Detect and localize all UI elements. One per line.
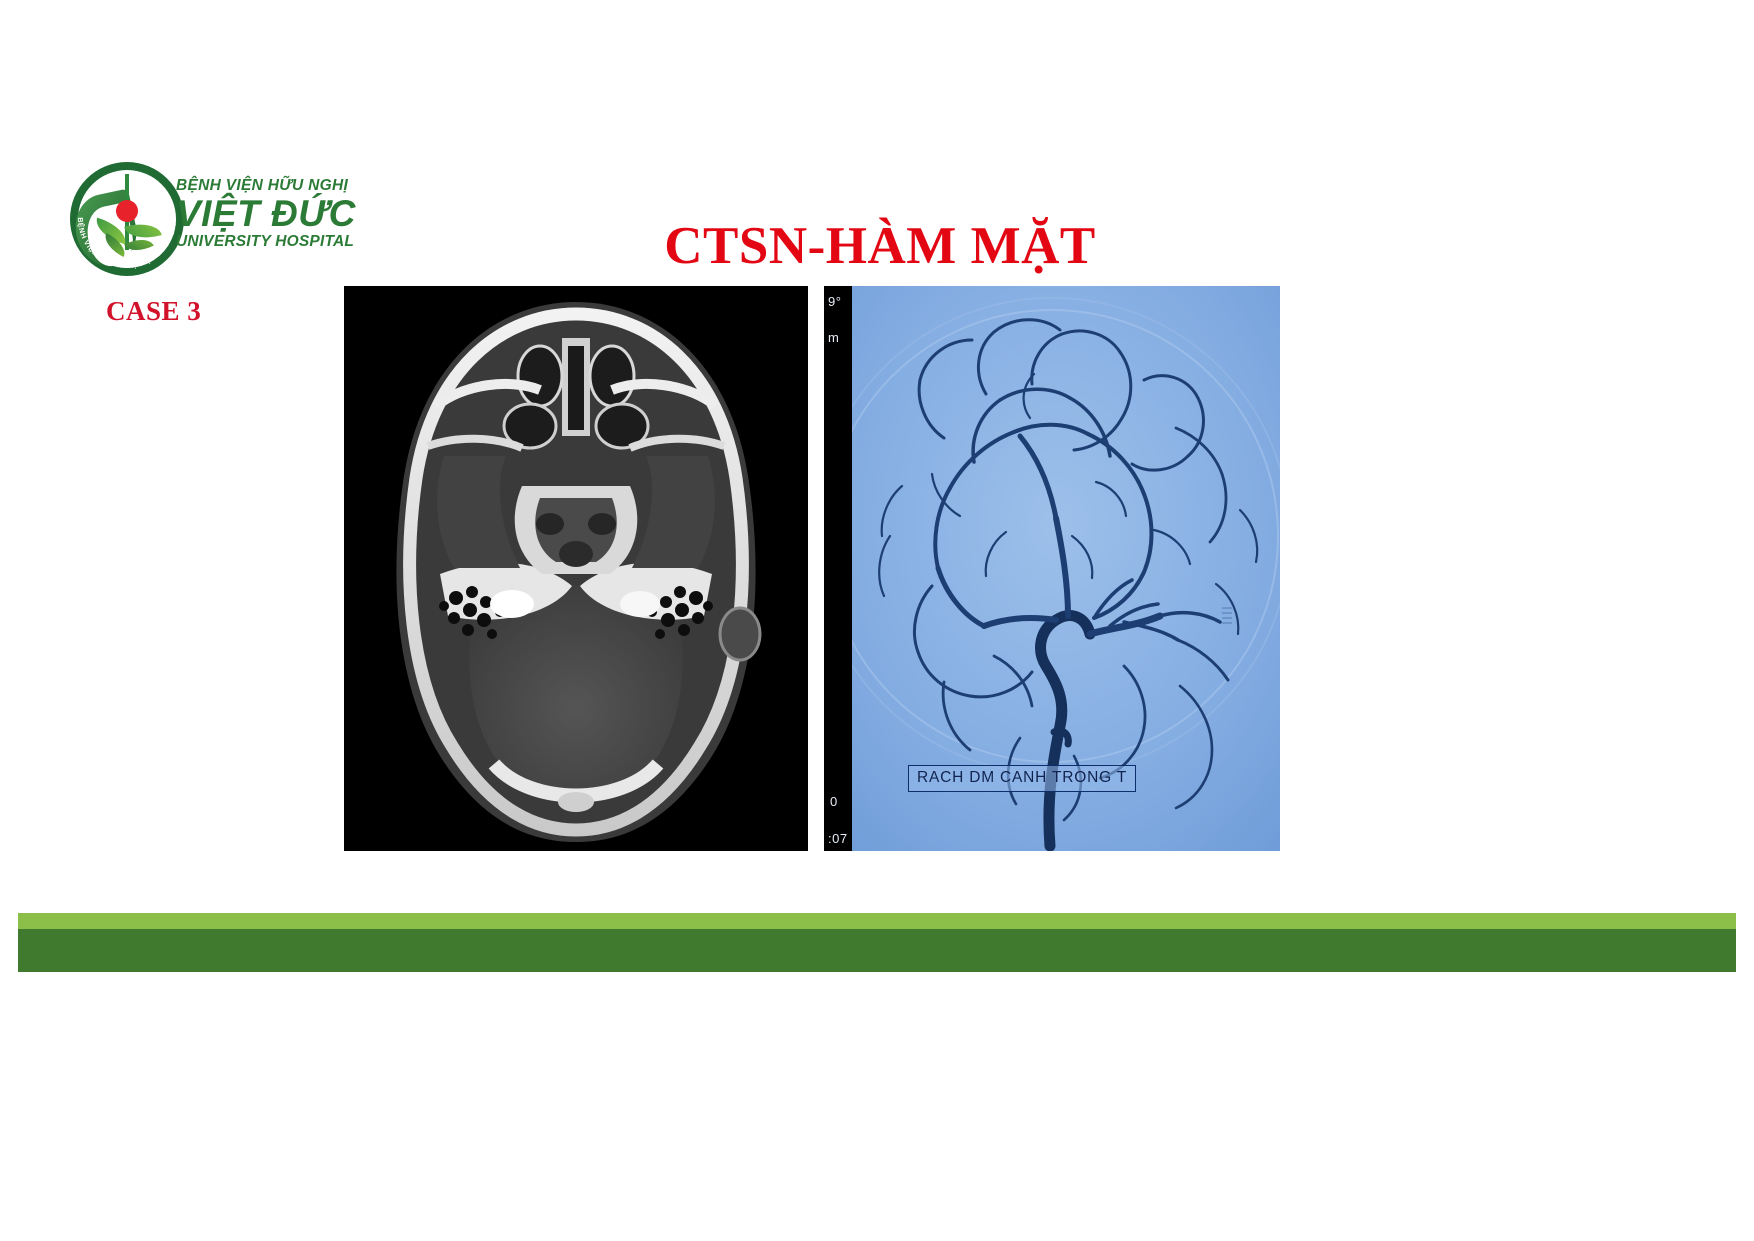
- hospital-logo-wordmark: BỆNH VIỆN HỮU NGHỊ VIỆT ĐỨC UNIVERSITY H…: [176, 178, 376, 251]
- angiogram-side-text-bottom: 0: [830, 794, 838, 809]
- case-label: CASE 3: [106, 296, 201, 327]
- angiogram-side-text-top: 9°: [828, 294, 841, 309]
- red-dot-icon: [116, 200, 138, 222]
- ct-scan-render: [344, 286, 808, 851]
- ct-scan-image: [344, 286, 808, 851]
- footer-bar-dark: [18, 929, 1736, 972]
- angiogram-side-text-top2: m: [828, 330, 839, 345]
- logo-line-benh-vien: BỆNH VIỆN HỮU NGHỊ: [176, 178, 376, 194]
- hospital-logo: BỆNH VIỆN HỮU NGHỊ VIỆT ĐỨC - 1906 BỆNH …: [68, 160, 368, 280]
- slide-canvas: BỆNH VIỆN HỮU NGHỊ VIỆT ĐỨC - 1906 BỆNH …: [0, 0, 1754, 1241]
- footer-bar-light: [18, 913, 1736, 929]
- hospital-logo-emblem-icon: BỆNH VIỆN HỮU NGHỊ VIỆT ĐỨC - 1906: [68, 160, 186, 278]
- angiogram-image: RACH DM CANH TRONG T 9° m 0 :07: [824, 286, 1280, 851]
- angiogram-side-text-bottom2: :07: [828, 831, 848, 846]
- angiogram-caption-label: RACH DM CANH TRONG T: [908, 765, 1136, 792]
- logo-line-university-hospital: UNIVERSITY HOSPITAL: [176, 234, 376, 250]
- page-title: CTSN-HÀM MẶT: [400, 216, 1360, 276]
- logo-line-viet-duc: VIỆT ĐỨC: [176, 195, 376, 232]
